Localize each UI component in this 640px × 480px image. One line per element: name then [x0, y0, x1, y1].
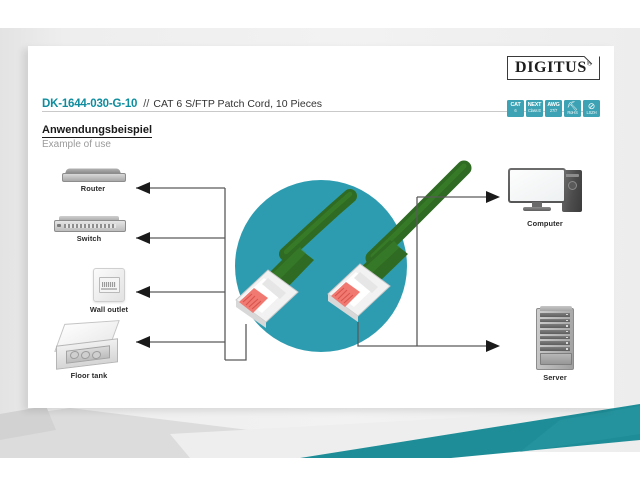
device-label-computer: Computer	[527, 219, 563, 228]
device-wall-outlet: Wall outlet	[64, 268, 154, 314]
cat6-badge: CAT 6	[507, 100, 524, 117]
spec-badge-row: CAT 6 NEXT Class E AWG 27/7 ⛏ RoHS ⊘ LSZ…	[507, 100, 600, 117]
floor-tank-icon	[54, 322, 124, 368]
device-label-server: Server	[543, 373, 567, 382]
router-icon	[62, 168, 124, 181]
server-icon	[536, 308, 574, 370]
digitus-logo: DIGITUS®	[507, 56, 600, 80]
device-server: Server	[510, 308, 600, 382]
logo-box: DIGITUS®	[507, 56, 600, 80]
product-sheet-canvas: DIGITUS® DK-1644-030-G-10//CAT 6 S/FTP P…	[0, 0, 640, 480]
section-title-en: Example of use	[42, 139, 111, 150]
lszh-badge: ⊘ LSZH	[583, 100, 600, 117]
awg-badge-line2: 27/7	[550, 109, 557, 113]
device-switch: Switch	[44, 216, 134, 243]
device-router: Router	[48, 168, 138, 193]
device-label-floor-tank: Floor tank	[71, 371, 108, 380]
article-number: DK-1644-030-G-10	[42, 98, 137, 112]
computer-icon	[508, 168, 582, 216]
next-badge: NEXT Class E	[526, 100, 543, 117]
rohs-badge: ⛏ RoHS	[564, 100, 581, 117]
lszh-badge-line2: LSZH	[587, 111, 597, 115]
device-floor-tank: Floor tank	[44, 322, 134, 380]
application-diagram: Router Switch Wall outlet	[28, 150, 614, 408]
device-label-router: Router	[81, 184, 105, 193]
switch-icon	[54, 216, 124, 231]
right-arrowheads	[486, 191, 500, 352]
device-label-wall-outlet: Wall outlet	[90, 305, 128, 314]
section-title-de: Anwendungsbeispiel	[42, 124, 152, 138]
left-arrowheads	[136, 182, 150, 348]
footer-decoration	[0, 400, 640, 460]
article-description: CAT 6 S/FTP Patch Cord, 10 Pieces	[153, 98, 322, 110]
wall-outlet-icon	[93, 268, 125, 302]
rohs-badge-line2: RoHS	[567, 111, 577, 115]
logo-wordmark: DIGITUS	[515, 59, 587, 76]
awg-badge: AWG 27/7	[545, 100, 562, 117]
content-sheet: DIGITUS® DK-1644-030-G-10//CAT 6 S/FTP P…	[28, 46, 614, 408]
article-separator: //	[143, 98, 149, 110]
device-label-switch: Switch	[77, 234, 101, 243]
cat6-badge-line2: 6	[514, 109, 516, 113]
next-badge-line2: Class E	[528, 109, 541, 113]
device-computer: Computer	[500, 168, 590, 228]
